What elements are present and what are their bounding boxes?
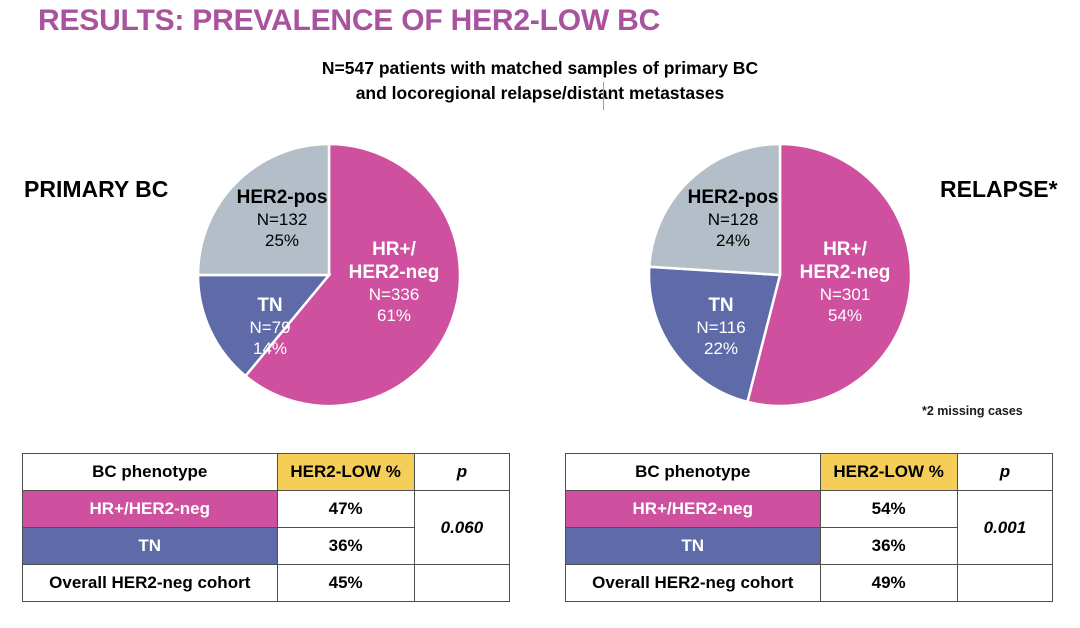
header-her2-low-pct: HER2-LOW %: [820, 454, 957, 491]
text-cursor: [603, 82, 604, 110]
page-title: RESULTS: PREVALENCE OF HER2-LOW BC: [38, 4, 660, 38]
header-p-value: p: [414, 454, 509, 491]
header-bc-phenotype: BC phenotype: [566, 454, 821, 491]
cell-p-empty: [957, 565, 1052, 602]
slide-subtitle: N=547 patients with matched samples of p…: [0, 56, 1080, 106]
cell-pct-hr: 47%: [277, 491, 414, 528]
cell-pct-overall: 49%: [820, 565, 957, 602]
table-row: HR+/HER2-neg 54% 0.001: [566, 491, 1053, 528]
results-table-primary: BC phenotype HER2-LOW % p HR+/HER2-neg 4…: [22, 453, 510, 602]
cell-phenotype-tn: TN: [566, 528, 821, 565]
table-header-row: BC phenotype HER2-LOW % p: [23, 454, 510, 491]
header-her2-low-pct: HER2-LOW %: [277, 454, 414, 491]
table-row: Overall HER2-neg cohort 45%: [23, 565, 510, 602]
cell-phenotype-tn: TN: [23, 528, 278, 565]
cell-p-value: 0.060: [414, 491, 509, 565]
chart-label-relapse: RELAPSE*: [940, 176, 1058, 203]
pie-chart-relapse: HR+/ HER2-neg N=301 54% TN N=116 22% HER…: [647, 142, 913, 408]
cell-pct-tn: 36%: [820, 528, 957, 565]
table-row: Overall HER2-neg cohort 49%: [566, 565, 1053, 602]
cell-p-value: 0.001: [957, 491, 1052, 565]
pie-svg-relapse: [647, 142, 913, 408]
subtitle-line-2: and locoregional relapse/distant metasta…: [0, 81, 1080, 106]
pie-slice-her2pos: [649, 144, 780, 275]
pie-graphic-primary-bc: HR+/ HER2-neg N=336 61% TN N=79 14% HER2…: [196, 142, 462, 408]
cell-phenotype-hr: HR+/HER2-neg: [566, 491, 821, 528]
pie-slice-her2pos: [198, 144, 329, 275]
results-table-relapse: BC phenotype HER2-LOW % p HR+/HER2-neg 5…: [565, 453, 1053, 602]
chart-label-primary-bc: PRIMARY BC: [24, 176, 168, 203]
cell-phenotype-hr: HR+/HER2-neg: [23, 491, 278, 528]
cell-pct-hr: 54%: [820, 491, 957, 528]
subtitle-line-1: N=547 patients with matched samples of p…: [0, 56, 1080, 81]
table-header-row: BC phenotype HER2-LOW % p: [566, 454, 1053, 491]
cell-p-empty: [414, 565, 509, 602]
cell-phenotype-overall: Overall HER2-neg cohort: [566, 565, 821, 602]
pie-chart-primary-bc: HR+/ HER2-neg N=336 61% TN N=79 14% HER2…: [196, 142, 462, 408]
cell-phenotype-overall: Overall HER2-neg cohort: [23, 565, 278, 602]
header-p-value: p: [957, 454, 1052, 491]
cell-pct-tn: 36%: [277, 528, 414, 565]
footnote-missing-cases: *2 missing cases: [922, 404, 1023, 418]
pie-graphic-relapse: HR+/ HER2-neg N=301 54% TN N=116 22% HER…: [647, 142, 913, 408]
table-row: HR+/HER2-neg 47% 0.060: [23, 491, 510, 528]
header-bc-phenotype: BC phenotype: [23, 454, 278, 491]
pie-svg-primary-bc: [196, 142, 462, 408]
cell-pct-overall: 45%: [277, 565, 414, 602]
